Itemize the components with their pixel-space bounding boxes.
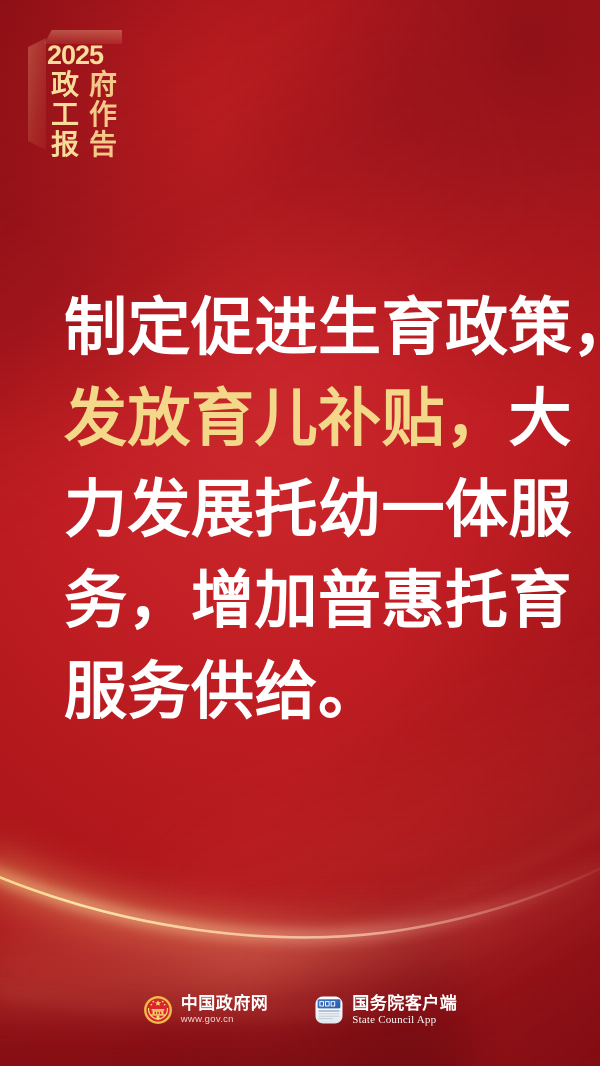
headline-line-1: 制定促进生育政策， <box>64 282 552 373</box>
brand-china-gov-url: www.gov.cn <box>181 1014 269 1026</box>
brand-china-gov-name: 中国政府网 <box>181 995 269 1014</box>
brand-state-council-app[interactable]: 国务院客户端 State Council App <box>314 995 457 1026</box>
brand-state-council-name-en: State Council App <box>352 1014 457 1026</box>
national-emblem-icon <box>143 995 173 1025</box>
headline-line-2: 发放育儿补贴，大 <box>64 373 552 464</box>
headline-segment: 制定促进生育政策， <box>64 291 600 364</box>
footer-brand-bar: 中国政府网 www.gov.cn <box>0 988 600 1032</box>
badge-char-2: 府 <box>85 70 121 100</box>
headline-line-5: 服务供给。 <box>64 646 552 737</box>
brand-china-gov-text: 中国政府网 www.gov.cn <box>181 995 269 1026</box>
badge-char-5: 报 <box>47 130 83 160</box>
headline-segment-highlight: 发放育儿补贴， <box>64 382 509 455</box>
headline-segment: 大 <box>509 382 573 455</box>
badge-char-3: 工 <box>47 100 83 130</box>
headline-segment: 务，增加普惠托育 <box>64 564 572 637</box>
brand-china-gov[interactable]: 中国政府网 www.gov.cn <box>143 995 269 1026</box>
brand-state-council-name: 国务院客户端 <box>352 995 457 1014</box>
badge-year-label: 2025 <box>47 42 103 69</box>
badge-title-grid: 政 府 工 作 报 告 <box>47 70 121 160</box>
badge-char-1: 政 <box>47 70 83 100</box>
badge-face: 2025 政 府 工 作 报 告 <box>44 42 122 154</box>
headline-line-3: 力发展托幼一体服 <box>64 464 552 555</box>
badge-char-6: 告 <box>85 130 121 160</box>
headline-line-4: 务，增加普惠托育 <box>64 555 552 646</box>
headline-segment: 服务供给。 <box>64 655 382 728</box>
report-badge: 2025 政 府 工 作 报 告 <box>28 30 122 158</box>
headline-block: 制定促进生育政策， 发放育儿补贴，大 力发展托幼一体服 务，增加普惠托育 服务供… <box>64 282 552 737</box>
state-council-app-icon <box>314 995 344 1025</box>
poster-canvas: 2025 政 府 工 作 报 告 制定促进生育政策， 发放育儿补贴，大 力发展托… <box>0 0 600 1066</box>
headline-segment: 力发展托幼一体服 <box>64 473 572 546</box>
badge-char-4: 作 <box>85 100 121 130</box>
brand-state-council-text: 国务院客户端 State Council App <box>352 995 457 1026</box>
